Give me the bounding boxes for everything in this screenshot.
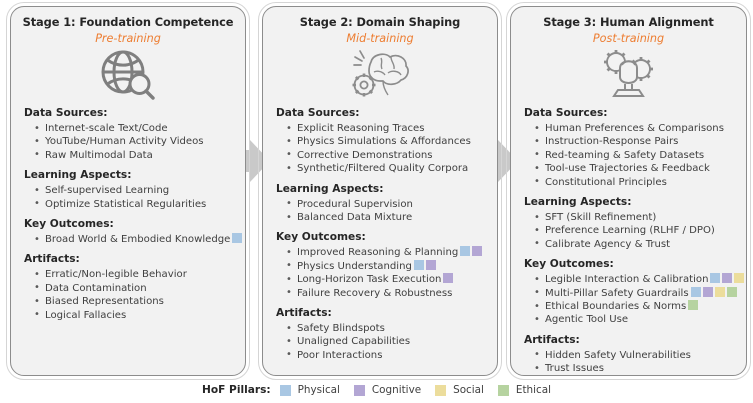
section-heading: Key Outcomes: [276, 231, 486, 244]
list-item-label: Trust Issues [545, 363, 604, 374]
list-item-label: SFT (Skill Refinement) [545, 212, 656, 223]
section-heading: Key Outcomes: [524, 258, 735, 271]
gear-shape [353, 74, 376, 97]
list-item-label: Explicit Reasoning Traces [297, 123, 425, 134]
section-list: Human Preferences & ComparisonsInstructi… [522, 122, 735, 189]
list-item-label: Broad World & Embodied Knowledge [45, 234, 230, 245]
section-list: Procedural SupervisionBalanced Data Mixt… [274, 198, 486, 225]
legend-item: Cognitive [354, 384, 421, 396]
legend-label: Cognitive [372, 384, 421, 396]
list-item-label: Balanced Data Mixture [297, 212, 412, 223]
panel-3-title: Stage 3: Human Alignment [522, 15, 735, 30]
pillar-swatch [710, 273, 720, 283]
pillar-swatch [426, 260, 436, 270]
panel-3-icon-wrap [522, 48, 735, 100]
list-item: Biased Representations [34, 295, 234, 308]
stage-panel-1: Stage 1: Foundation Competence Pre-train… [10, 6, 246, 376]
list-item: Legible Interaction & Calibration [534, 273, 735, 286]
panel-2-icon-wrap [274, 48, 486, 100]
list-item-label: Hidden Safety Vulnerabilities [545, 350, 691, 361]
legend-label: Social [453, 384, 484, 396]
pillar-swatch [703, 287, 713, 297]
list-item-label: Tool-use Trajectories & Feedback [545, 163, 710, 174]
list-item-label: Safety Blindspots [297, 323, 385, 334]
list-item-label: Agentic Tool Use [545, 314, 628, 325]
list-item-label: Human Preferences & Comparisons [545, 123, 724, 134]
list-item-label: Unaligned Capabilities [297, 336, 410, 347]
legend-swatch [280, 385, 291, 396]
list-item: Internet-scale Text/Code [34, 122, 234, 135]
pillar-swatch [715, 287, 725, 297]
panel-1-icon-wrap [22, 48, 234, 100]
list-item: Physics Understanding [286, 260, 486, 273]
section-heading: Data Sources: [24, 107, 234, 120]
panel-3-sections: Data Sources: Human Preferences & Compar… [522, 107, 735, 376]
globe-search-icon [97, 48, 159, 100]
list-item: Preference Learning (RLHF / DPO) [534, 224, 735, 237]
list-item: Erratic/Non-legible Behavior [34, 268, 234, 281]
list-item-label: Instruction-Response Pairs [545, 136, 678, 147]
brain-gear-icon [347, 48, 413, 100]
list-item-label: Preference Learning (RLHF / DPO) [545, 225, 715, 236]
pillar-swatch [722, 273, 732, 283]
pillar-swatch [688, 300, 698, 310]
list-item: Procedural Supervision [286, 198, 486, 211]
list-item-label: Procedural Supervision [297, 199, 413, 210]
section-list: Safety BlindspotsUnaligned CapabilitiesP… [274, 322, 486, 362]
stage-panel-3: Stage 3: Human Alignment Post-training [510, 6, 747, 376]
list-item-label: Optimize Statistical Regularities [45, 199, 206, 210]
list-item: Failure Recovery & Robustness [286, 287, 486, 300]
list-item: Corrective Demonstrations [286, 149, 486, 162]
list-item: Agentic Tool Use [534, 313, 735, 326]
section-list: Broad World & Embodied Knowledge [22, 233, 234, 246]
list-item: Hidden Safety Vulnerabilities [534, 349, 735, 362]
list-item: Instruction-Response Pairs [534, 135, 735, 148]
list-item: Calibrate Agency & Trust [534, 238, 735, 251]
section-list: Legible Interaction & CalibrationMulti-P… [522, 273, 735, 327]
section-heading: Data Sources: [276, 107, 486, 120]
section-list: Explicit Reasoning TracesPhysics Simulat… [274, 122, 486, 176]
list-item: Safety Blindspots [286, 322, 486, 335]
list-item-label: Physics Understanding [297, 261, 412, 272]
section-heading: Learning Aspects: [276, 183, 486, 196]
legend-label: Ethical [516, 384, 551, 396]
list-item: YouTube/Human Activity Videos [34, 135, 234, 148]
pillar-swatch [734, 273, 744, 283]
pipeline-diagram: Stage 1: Foundation Competence Pre-train… [0, 0, 753, 403]
list-item-label: Legible Interaction & Calibration [545, 274, 708, 285]
list-item-label: Biased Representations [45, 296, 164, 307]
legend-swatch [498, 385, 509, 396]
section-list: Improved Reasoning & PlanningPhysics Und… [274, 246, 486, 300]
list-item: Multi-Pillar Safety Guardrails [534, 287, 735, 300]
list-item: Constitutional Principles [534, 176, 735, 189]
list-item: Physics Simulations & Affordances [286, 135, 486, 148]
list-item-label: Raw Multimodal Data [45, 150, 153, 161]
legend-items: PhysicalCognitiveSocialEthical [280, 384, 551, 396]
list-item: Tool-use Trajectories & Feedback [534, 162, 735, 175]
section-list: SFT (Skill Refinement)Preference Learnin… [522, 211, 735, 251]
list-item: Ethical Boundaries & Norms [534, 300, 735, 313]
list-item: Unaligned Capabilities [286, 335, 486, 348]
list-item-label: Improved Reasoning & Planning [297, 247, 458, 258]
list-item-label: Physics Simulations & Affordances [297, 136, 471, 147]
list-item-label: Multi-Pillar Safety Guardrails [545, 288, 689, 299]
legend: HoF Pillars: PhysicalCognitiveSocialEthi… [0, 384, 753, 396]
list-item-label: YouTube/Human Activity Videos [45, 136, 204, 147]
list-item-label: Synthetic/Filtered Quality Corpora [297, 163, 468, 174]
legend-item: Social [435, 384, 484, 396]
list-item: Logical Fallacies [34, 309, 234, 322]
section-heading: Artifacts: [24, 253, 234, 266]
section-heading: Key Outcomes: [24, 218, 234, 231]
list-item-label: Poor Interactions [297, 350, 382, 361]
legend-swatch [354, 385, 365, 396]
list-item: Balanced Data Mixture [286, 211, 486, 224]
list-item: Self-supervised Learning [34, 184, 234, 197]
list-item-label: Self-supervised Learning [45, 185, 169, 196]
section-list: Erratic/Non-legible BehaviorData Contami… [22, 268, 234, 322]
panel-2-subtitle: Mid-training [274, 31, 486, 46]
list-item-label: Erratic/Non-legible Behavior [45, 269, 187, 280]
list-item: Broad World & Embodied Knowledge [34, 233, 234, 246]
human-gears-icon [599, 47, 659, 101]
panel-2-sections: Data Sources: Explicit Reasoning TracesP… [274, 107, 486, 362]
pillar-swatch [232, 233, 242, 243]
list-item-label: Failure Recovery & Robustness [297, 288, 452, 299]
list-item: Improved Reasoning & Planning [286, 246, 486, 259]
pillar-swatch [443, 273, 453, 283]
list-item: Synthetic/Filtered Quality Corpora [286, 162, 486, 175]
section-heading: Artifacts: [276, 307, 486, 320]
list-item: SFT (Skill Refinement) [534, 211, 735, 224]
list-item: Poor Interactions [286, 349, 486, 362]
section-list: Self-supervised LearningOptimize Statist… [22, 184, 234, 211]
panel-1-subtitle: Pre-training [22, 31, 234, 46]
list-item: Data Contamination [34, 282, 234, 295]
list-item-label: Long-Horizon Task Execution [297, 274, 441, 285]
list-item: Red-teaming & Safety Datasets [534, 149, 735, 162]
section-list: Hidden Safety VulnerabilitiesTrust Issue… [522, 349, 735, 376]
section-heading: Learning Aspects: [24, 169, 234, 182]
panel-1-sections: Data Sources: Internet-scale Text/CodeYo… [22, 107, 234, 322]
pillar-swatch [414, 260, 424, 270]
legend-item: Ethical [498, 384, 551, 396]
section-heading: Learning Aspects: [524, 196, 735, 209]
list-item: Optimize Statistical Regularities [34, 198, 234, 211]
pillar-swatch [460, 246, 470, 256]
section-heading: Data Sources: [524, 107, 735, 120]
section-list: Internet-scale Text/CodeYouTube/Human Ac… [22, 122, 234, 162]
legend-swatch [435, 385, 446, 396]
pillar-swatch [727, 287, 737, 297]
panel-1-title: Stage 1: Foundation Competence [22, 15, 234, 30]
list-item: Trust Issues [534, 362, 735, 375]
panel-2-title: Stage 2: Domain Shaping [274, 15, 486, 30]
section-heading: Artifacts: [524, 334, 735, 347]
stage-panel-2: Stage 2: Domain Shaping Mid-training [262, 6, 498, 376]
list-item-label: Internet-scale Text/Code [45, 123, 168, 134]
list-item-label: Ethical Boundaries & Norms [545, 301, 686, 312]
list-item-label: Red-teaming & Safety Datasets [545, 150, 704, 161]
legend-item: Physical [280, 384, 340, 396]
legend-label: Physical [298, 384, 340, 396]
list-item: Raw Multimodal Data [34, 149, 234, 162]
pillar-swatch [691, 287, 701, 297]
list-item: Explicit Reasoning Traces [286, 122, 486, 135]
list-item-label: Constitutional Principles [545, 177, 667, 188]
pillar-swatch [472, 246, 482, 256]
list-item-label: Corrective Demonstrations [297, 150, 433, 161]
list-item: Human Preferences & Comparisons [534, 122, 735, 135]
panel-3-subtitle: Post-training [522, 31, 735, 46]
list-item-label: Logical Fallacies [45, 310, 126, 321]
list-item-label: Data Contamination [45, 283, 147, 294]
list-item: Long-Horizon Task Execution [286, 273, 486, 286]
legend-title: HoF Pillars: [202, 384, 271, 396]
list-item-label: Calibrate Agency & Trust [545, 239, 670, 250]
